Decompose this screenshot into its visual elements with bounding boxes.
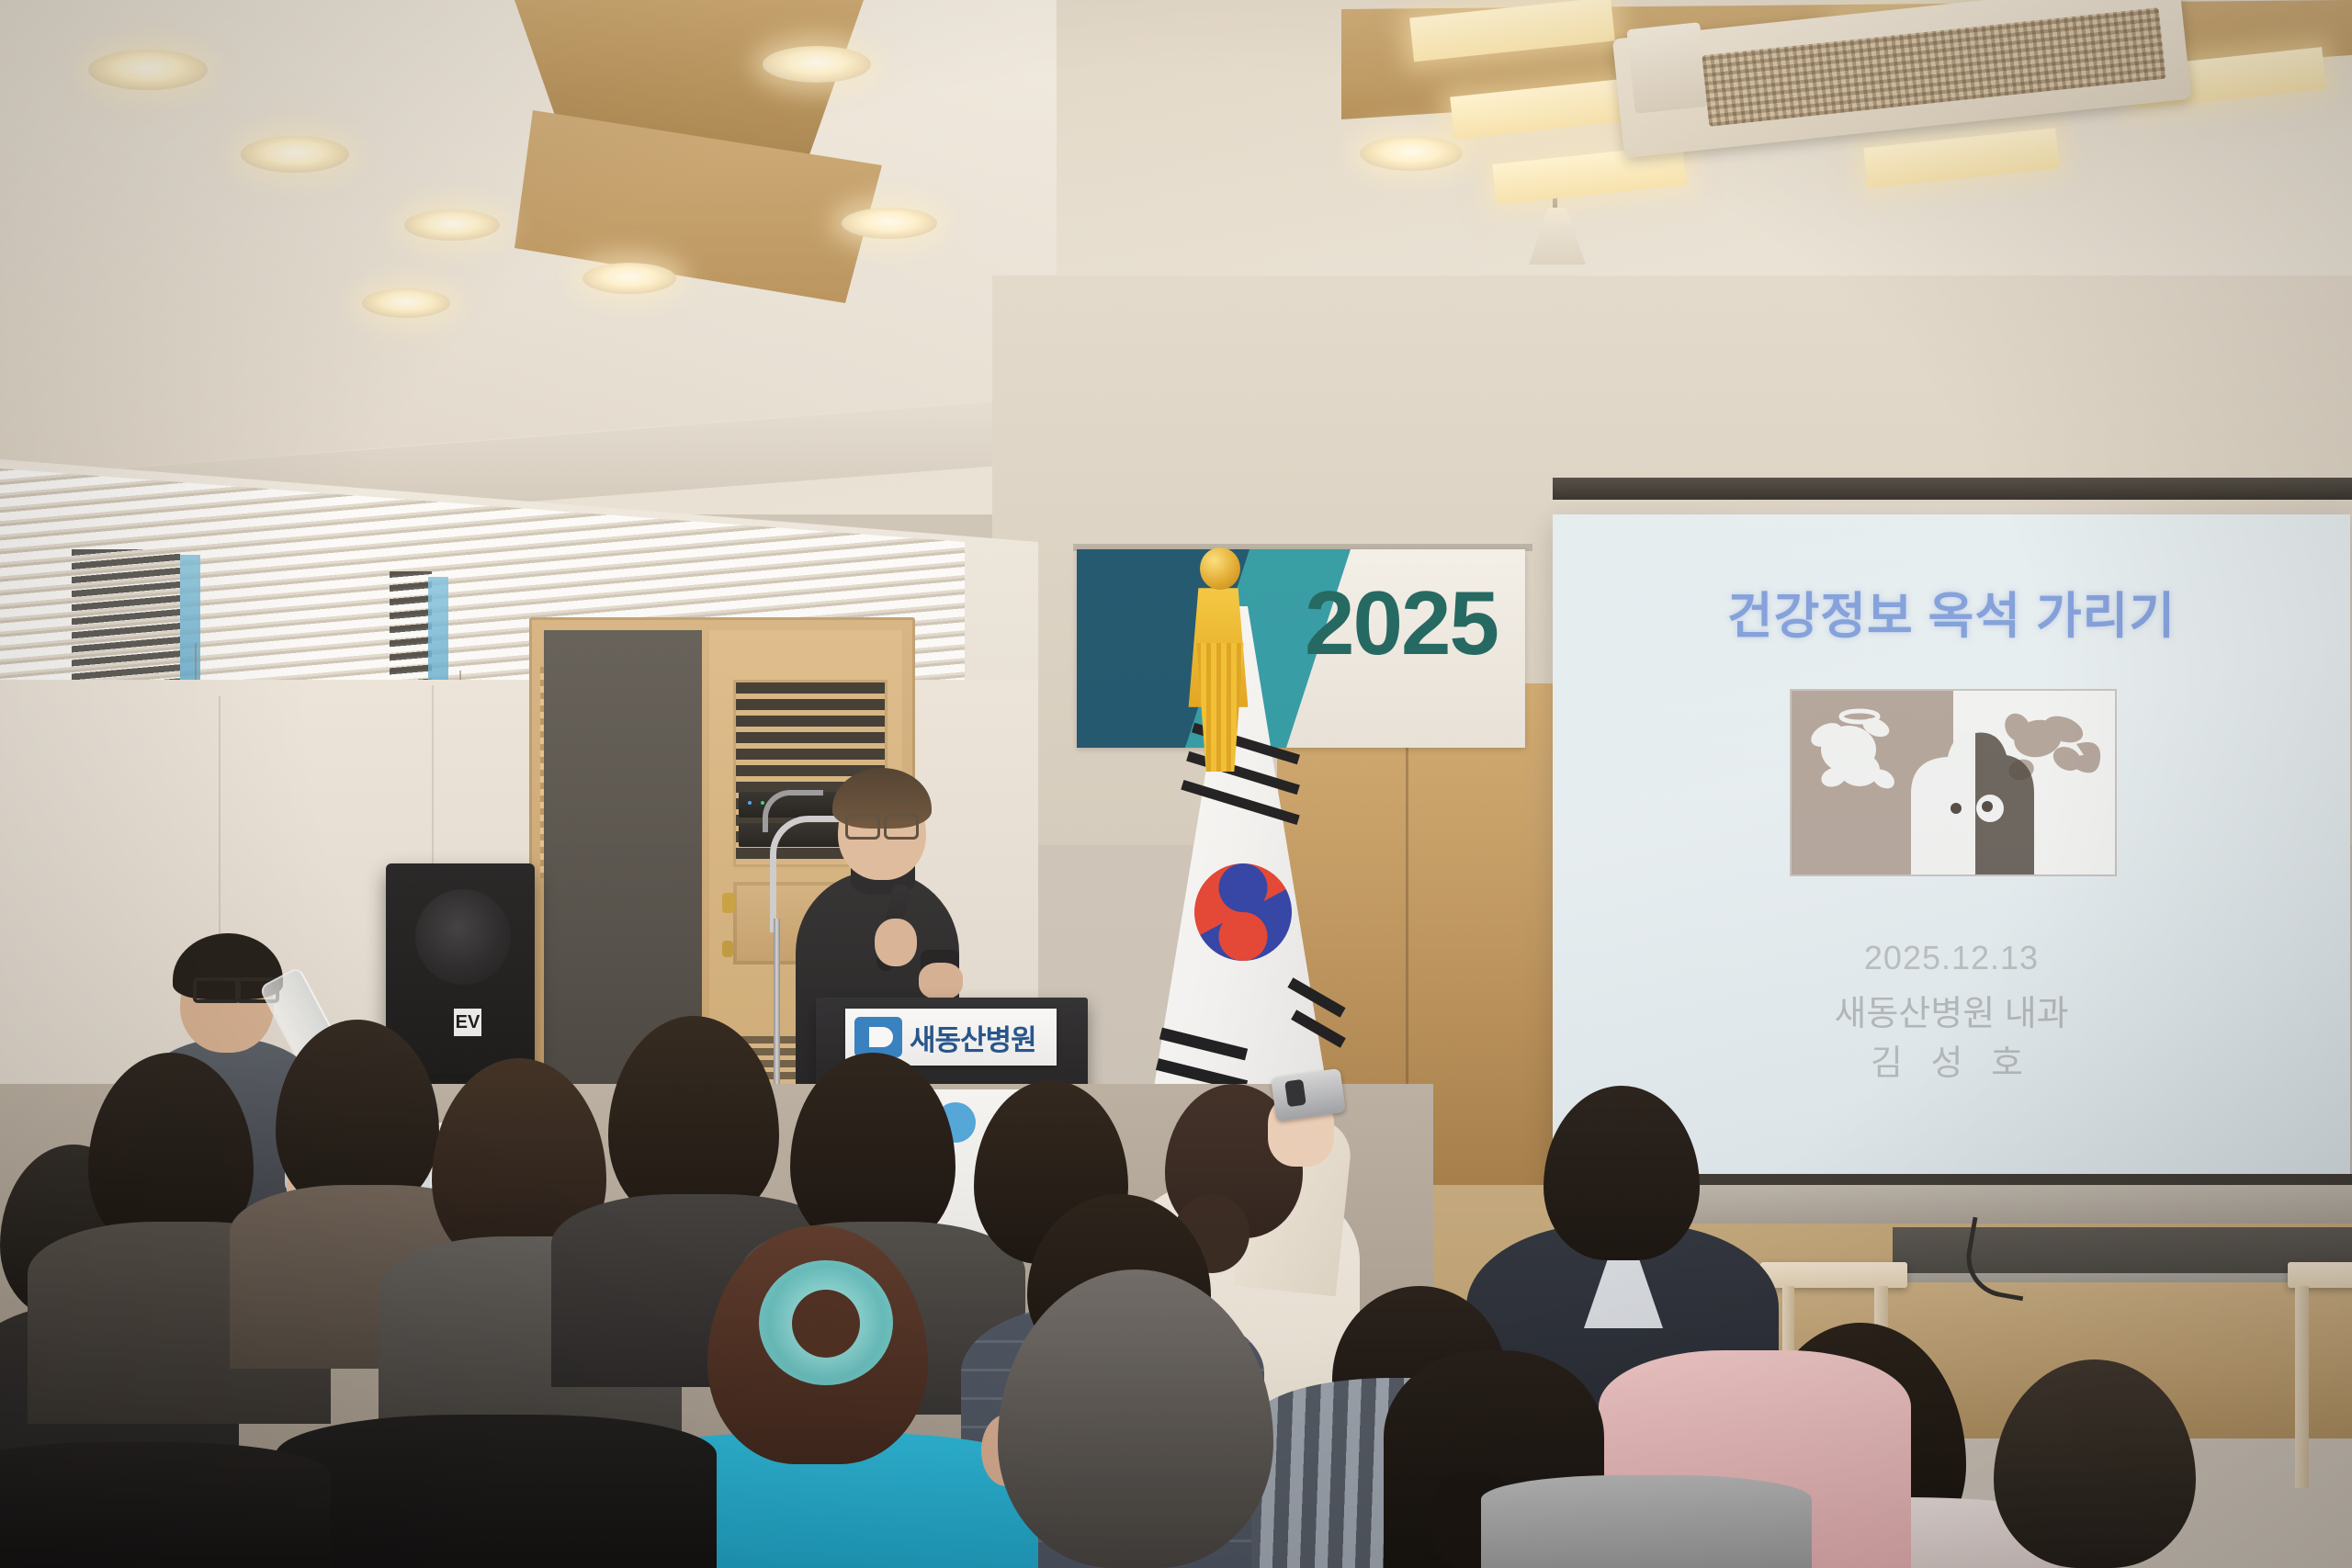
hospital-name-text: 새동산병원 — [910, 1017, 1036, 1058]
speaker-brand-badge: EV — [454, 1009, 481, 1036]
downlight-icon — [763, 46, 871, 83]
eyeglasses-icon — [193, 977, 241, 1003]
hospital-logo-icon — [854, 1017, 902, 1057]
downlight-icon — [1360, 136, 1463, 171]
flag-finial-icon — [1200, 547, 1240, 590]
angel-devil-svg — [1792, 691, 2115, 874]
blind-slat-shadow — [72, 549, 180, 687]
eyeglasses-icon — [884, 814, 919, 840]
slide-title: 건강정보 옥석 가리기 — [1553, 575, 2350, 648]
downlight-icon — [88, 50, 208, 90]
lecture-hall-photo: 2025 건강정보 옥석 가리기 — [0, 0, 2352, 1568]
air-conditioner-vane — [1626, 22, 1708, 114]
slide-date: 2025.12.13 — [1553, 939, 2350, 977]
stair-step — [1893, 1227, 2352, 1273]
door-lock-icon[interactable] — [722, 941, 733, 957]
door-knob-icon[interactable] — [722, 893, 735, 913]
rack-status-led — [748, 801, 752, 805]
downlight-icon — [241, 136, 349, 173]
presenter-hand — [875, 919, 917, 966]
table-leg — [2295, 1286, 2309, 1488]
projection-screen-housing — [1553, 478, 2352, 500]
downlight-icon — [362, 288, 450, 318]
banner-year-text: 2025 — [1305, 571, 1525, 682]
hair-bun — [792, 1290, 860, 1358]
front-row-silhouette — [0, 1442, 331, 1568]
grey-sweater-body — [1481, 1475, 1812, 1568]
speaker-cone-icon — [415, 889, 511, 985]
presenter-hand — [919, 963, 963, 999]
angel-devil-illustration — [1792, 691, 2115, 874]
folding-table — [1760, 1262, 1907, 1288]
blind-tape — [180, 555, 200, 691]
slide-speaker-name: 김 성 호 — [1553, 1034, 2350, 1085]
front-row-silhouette — [276, 1415, 717, 1568]
folding-table — [2288, 1262, 2352, 1288]
downlight-icon — [842, 208, 937, 239]
rack-status-led — [761, 801, 764, 805]
downlight-icon — [404, 209, 500, 241]
slide-organization: 새동산병원 내과 — [1553, 985, 2350, 1035]
phone-camera-icon — [1284, 1079, 1306, 1108]
eyeglasses-icon — [845, 814, 880, 840]
downlight-icon — [582, 263, 676, 294]
